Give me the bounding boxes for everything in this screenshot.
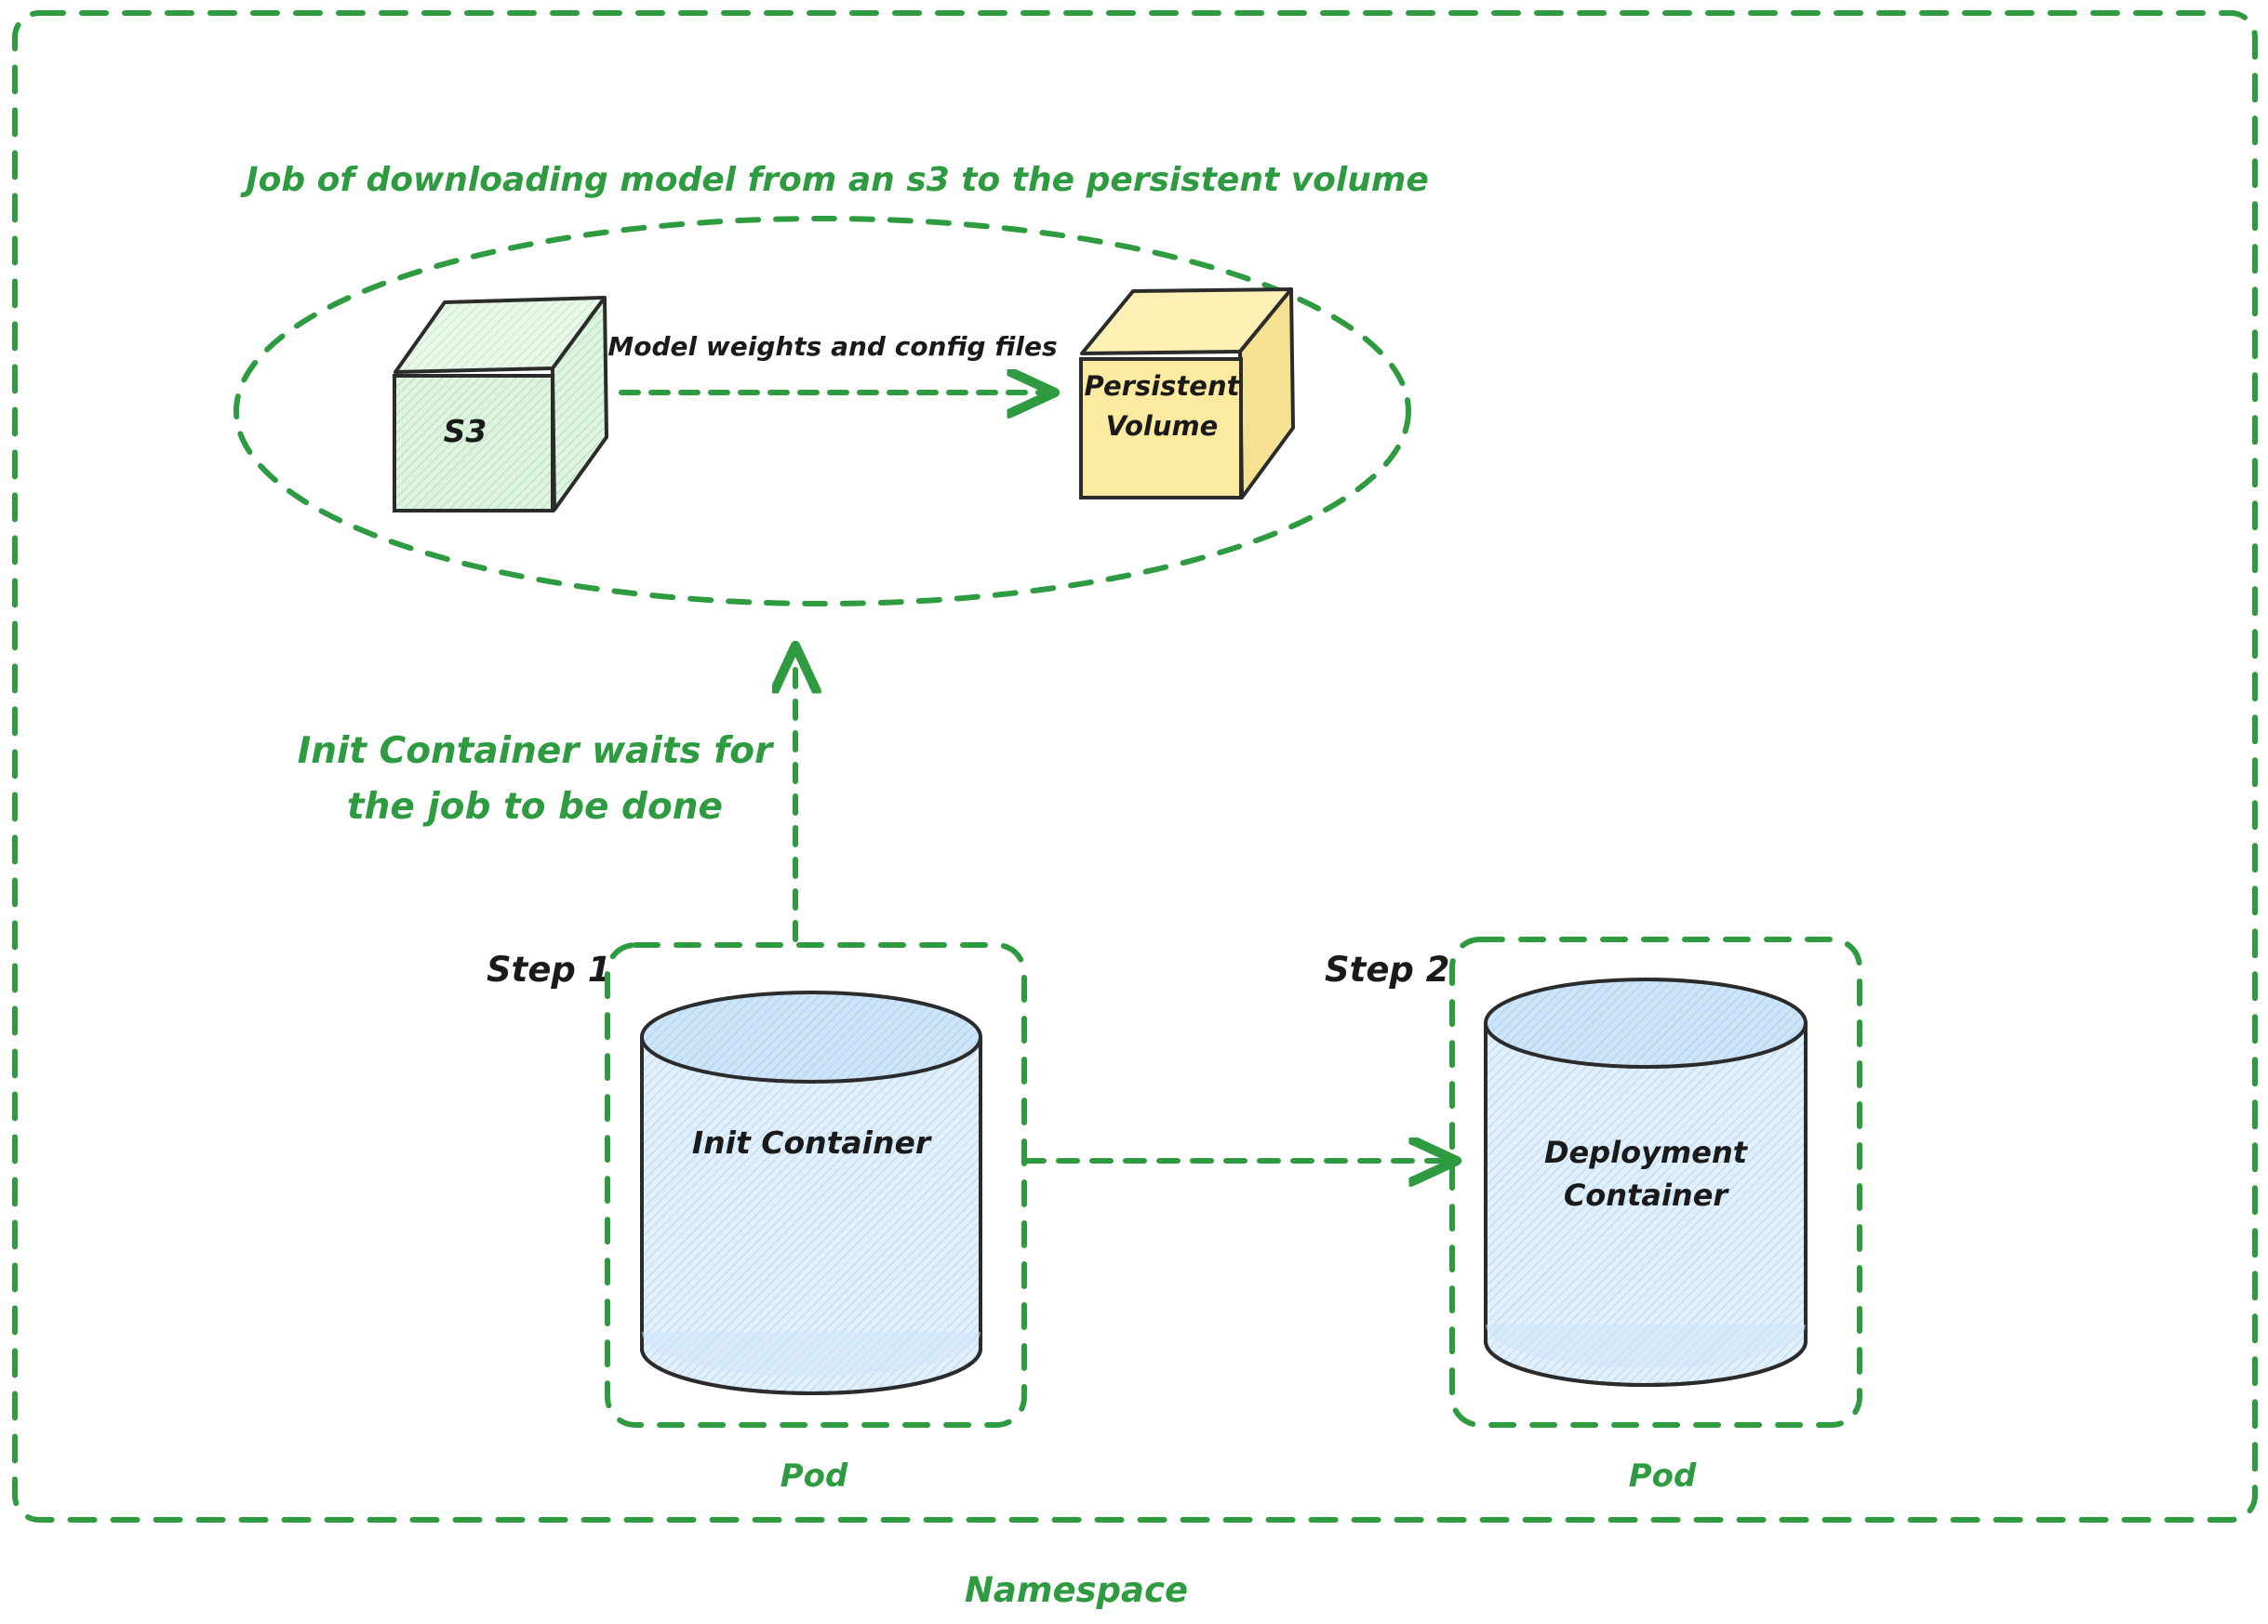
- architecture-diagram: Job of downloading model from an s3 to t…: [0, 0, 2268, 1624]
- pod-2-label: Pod: [1629, 1458, 1697, 1495]
- wait-arrow-label-line2: the job to be done: [347, 786, 723, 828]
- transfer-arrow: Model weights and config files: [607, 331, 1057, 393]
- deployment-container-cylinder-top: [1486, 979, 1806, 1067]
- job-title-label: Job of downloading model from an s3 to t…: [240, 161, 1429, 199]
- pod-2: Step 2 Deployment Container Pod: [1325, 939, 1860, 1495]
- init-container-wait-arrow: Init Container waits for the job to be d…: [298, 651, 795, 939]
- init-container-label-line1: Init Container: [692, 1125, 932, 1161]
- deployment-container-cylinder: Deployment Container: [1486, 979, 1806, 1385]
- s3-cube-label: S3: [444, 413, 487, 449]
- namespace-label: Namespace: [965, 1570, 1188, 1610]
- init-container-cylinder-top: [642, 992, 981, 1082]
- persistent-volume-cube: Persistent Volume: [1081, 289, 1293, 498]
- pod-2-step-label: Step 2: [1325, 950, 1450, 990]
- wait-arrow-label-line1: Init Container waits for: [298, 730, 775, 772]
- pod-1: Step 1 Init Container Pod: [487, 945, 1024, 1495]
- pv-cube-label-line2: Volume: [1106, 410, 1219, 442]
- pv-cube-label-line1: Persistent: [1085, 370, 1241, 402]
- s3-cube: S3: [394, 298, 607, 511]
- pod-1-step-label: Step 1: [487, 950, 612, 990]
- job-group: Job of downloading model from an s3 to t…: [236, 161, 1429, 604]
- diagram-canvas: Job of downloading model from an s3 to t…: [0, 0, 2268, 1624]
- pod-1-label: Pod: [780, 1458, 848, 1495]
- transfer-arrow-label: Model weights and config files: [607, 331, 1057, 362]
- deployment-container-label-line2: Container: [1564, 1178, 1730, 1213]
- deployment-container-label-line1: Deployment: [1544, 1135, 1749, 1170]
- init-container-cylinder: Init Container: [642, 992, 981, 1393]
